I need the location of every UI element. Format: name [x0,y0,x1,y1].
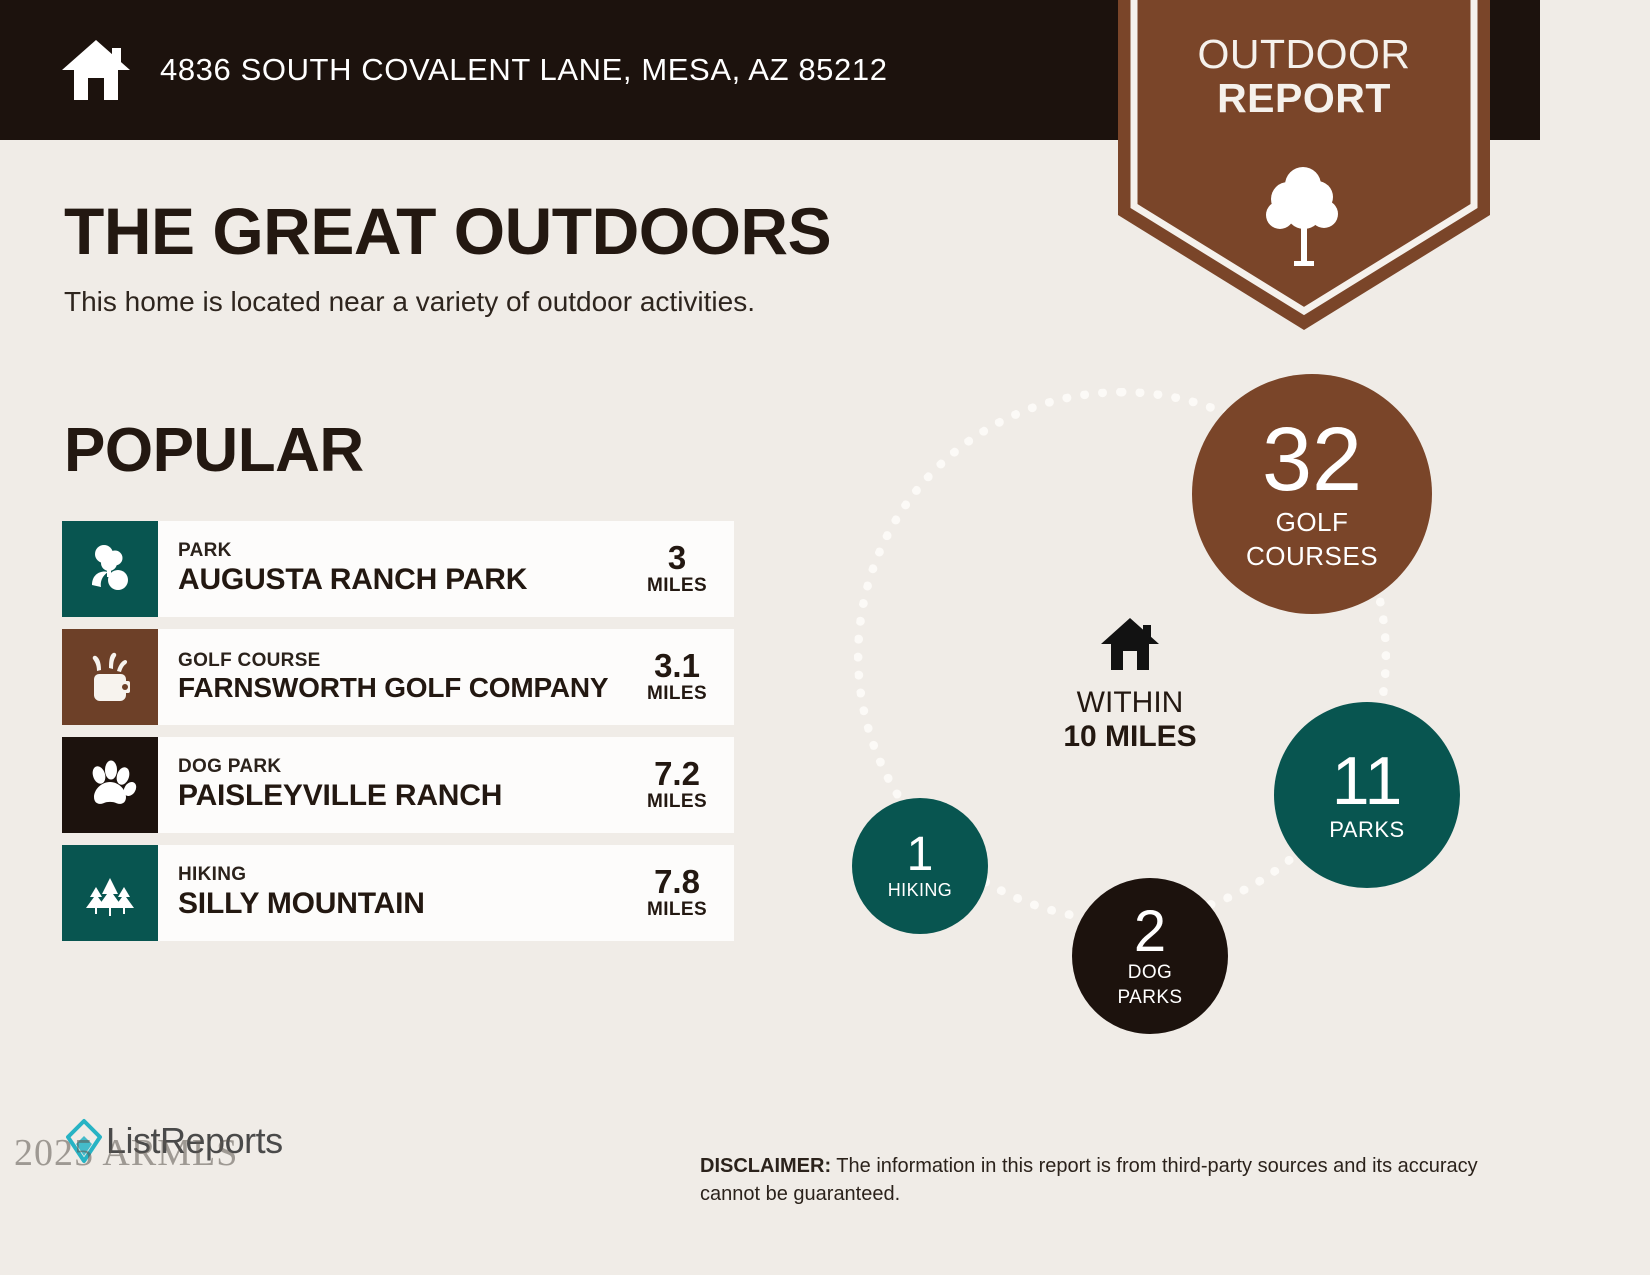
page-subtitle: This home is located near a variety of o… [64,286,755,318]
paw-print-icon-tile [62,737,158,833]
property-address: 4836 SOUTH COVALENT LANE, MESA, AZ 85212 [160,52,888,88]
bubble-label-2: PARKS [1117,988,1182,1008]
list-item-body: HIKING SILLY MOUNTAIN 7.8 MILES [158,845,734,941]
list-item-category: HIKING [178,864,634,886]
bubble-label-1: DOG [1128,963,1172,983]
chart-center-label: WITHIN 10 MILES [1030,616,1230,755]
within-10-miles-bubble-chart: WITHIN 10 MILES 32 GOLF COURSES 11 PARKS… [830,358,1510,1048]
bubble-value: 11 [1332,749,1403,814]
badge-pennant-shape [1118,0,1490,330]
list-item-category: GOLF COURSE [178,650,634,672]
disclaimer: DISCLAIMER: The information in this repo… [700,1152,1510,1209]
golf-bag-icon-tile [62,629,158,725]
list-item-body: GOLF COURSE FARNSWORTH GOLF COMPANY 3.1 … [158,629,734,725]
list-item-category: DOG PARK [178,756,634,778]
armls-watermark: 2025 ARMLS [14,1131,238,1175]
distance-unit: MILES [634,791,720,813]
page-title: THE GREAT OUTDOORS [64,193,831,269]
bubble-label-1: HIKING [888,881,952,900]
list-item[interactable]: DOG PARK PAISLEYVILLE RANCH 7.2 MILES [62,737,734,833]
list-item-distance: 7.2 MILES [634,757,720,814]
list-item-distance: 3 MILES [634,541,720,598]
park-trees-icon [82,541,138,597]
distance-value: 3.1 [634,649,720,684]
list-item-name: SILLY MOUNTAIN [178,886,634,921]
distance-unit: MILES [634,575,720,597]
distance-unit: MILES [634,683,720,705]
popular-section-title: POPULAR [64,415,364,486]
bubble-value: 2 [1134,904,1166,959]
list-item-category: PARK [178,540,634,562]
pine-trees-icon-tile [62,845,158,941]
center-line-1: WITHIN [1030,686,1230,719]
list-item-distance: 3.1 MILES [634,649,720,706]
pine-trees-icon [81,864,139,922]
center-line-2: 10 MILES [1030,719,1230,755]
distance-value: 7.2 [634,757,720,792]
distance-value: 3 [634,541,720,576]
list-item-name: PAISLEYVILLE RANCH [178,778,634,813]
park-trees-icon-tile [62,521,158,617]
popular-list: PARK AUGUSTA RANCH PARK 3 MILES GOLF COU… [62,521,734,953]
list-item[interactable]: GOLF COURSE FARNSWORTH GOLF COMPANY 3.1 … [62,629,734,725]
list-item-name: FARNSWORTH GOLF COMPANY [178,671,634,704]
list-item-body: DOG PARK PAISLEYVILLE RANCH 7.2 MILES [158,737,734,833]
list-item[interactable]: HIKING SILLY MOUNTAIN 7.8 MILES [62,845,734,941]
bubble-label-1: GOLF [1276,509,1349,537]
distance-unit: MILES [634,899,720,921]
distance-value: 7.8 [634,865,720,900]
bubble-label-1: PARKS [1329,818,1404,841]
bubble-label-2: COURSES [1246,543,1378,571]
bubble-golf-courses[interactable]: 32 GOLF COURSES [1192,374,1432,614]
golf-bag-icon [83,648,137,706]
list-item-name: AUGUSTA RANCH PARK [178,562,634,597]
bubble-hiking[interactable]: 1 HIKING [852,798,988,934]
list-item[interactable]: PARK AUGUSTA RANCH PARK 3 MILES [62,521,734,617]
house-icon [60,38,132,102]
bubble-value: 32 [1262,418,1362,504]
paw-print-icon [83,758,137,812]
list-item-body: PARK AUGUSTA RANCH PARK 3 MILES [158,521,734,617]
bubble-parks[interactable]: 11 PARKS [1274,702,1460,888]
outdoor-report-badge: OUTDOOR REPORT [1118,0,1490,330]
disclaimer-label: DISCLAIMER: [700,1155,831,1177]
bubble-dog-parks[interactable]: 2 DOG PARKS [1072,878,1228,1034]
bubble-value: 1 [907,832,934,878]
list-item-distance: 7.8 MILES [634,865,720,922]
house-icon [1099,616,1161,672]
